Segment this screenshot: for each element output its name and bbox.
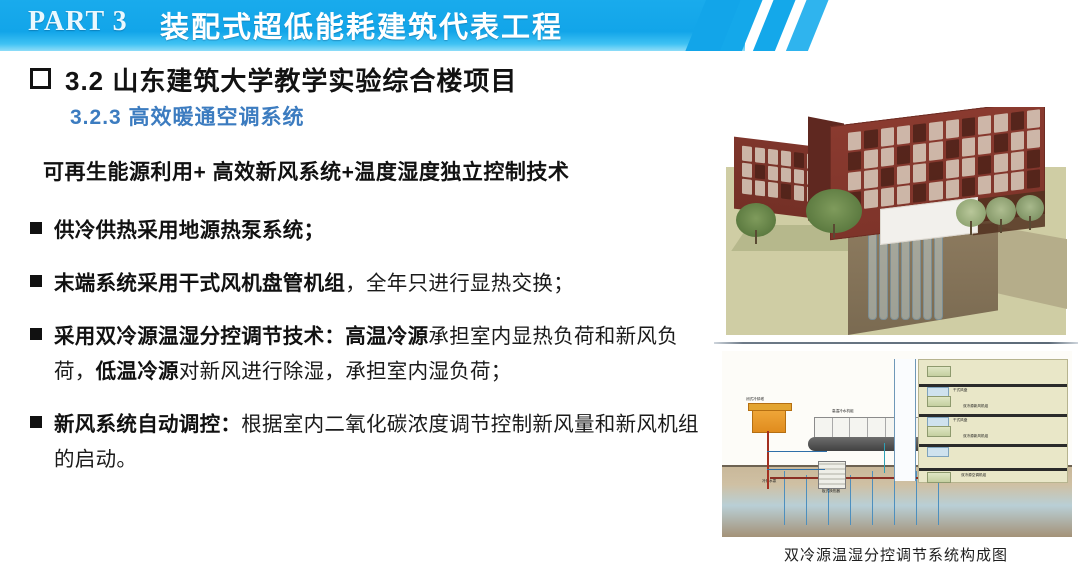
borehole — [784, 471, 785, 525]
label-ahu: 双冷源新风机组 — [963, 404, 988, 409]
pipe-hot — [767, 431, 769, 489]
filled-square-icon — [30, 416, 42, 428]
slide-content: 3.2 山东建筑大学教学实验综合楼项目 3.2.3 高效暖通空调系统 可再生能源… — [0, 51, 712, 576]
bullet-bold: 供冷供热采用地源热泵系统； — [54, 219, 324, 242]
fan-coil-unit-icon — [927, 426, 951, 437]
bullet-regular-3: 对新风进行除湿，承担室内湿负荷； — [179, 360, 512, 383]
lead-line: 可再生能源利用+ 高效新风系统+温度湿度独立控制技术 — [43, 156, 569, 186]
bullet-list: 供冷供热采用地源热泵系统； 末端系统采用干式风机盘管机组，全年只进行显热交换； … — [30, 213, 700, 495]
tree — [1016, 195, 1044, 221]
tree — [806, 189, 862, 233]
label-plate-hx: 板式换热器 — [822, 489, 840, 494]
borehole — [806, 475, 807, 525]
slide-header: PART 3 装配式超低能耗建筑代表工程 — [0, 0, 1080, 51]
list-item: 新风系统自动调控：根据室内二氧化碳浓度调节控制新风量和新风机组的启动。 — [30, 407, 700, 477]
fan-coil-unit-icon — [927, 396, 951, 407]
borehole — [916, 471, 917, 525]
borehole-u-loops — [868, 233, 950, 319]
bullet-bold-2: 高温冷源 — [345, 325, 428, 348]
bullet-bold: 新风系统自动调控： — [54, 413, 241, 436]
borehole — [850, 475, 851, 525]
hvac-schematic-figure: 闭式冷却塔 高温冷水机组 板式换热器 冷却水泵 冷冻水泵 16℃ 21℃ 干式风… — [722, 351, 1072, 537]
label-ahu: 双冷源新风机组 — [963, 434, 988, 439]
bullet-regular: ，全年只进行显热交换； — [345, 272, 574, 295]
building-floors-stack: 干式风盘 双冷源新风机组 干式风盘 双冷源新风机组 双冷源空调机组 — [918, 359, 1068, 483]
bullet-bold: 末端系统采用干式风机盘管机组 — [54, 272, 345, 295]
vertical-riser-shaft — [894, 359, 916, 481]
list-item: 末端系统采用干式风机盘管机组，全年只进行显热交换； — [30, 266, 700, 301]
header-title: 装配式超低能耗建筑代表工程 — [160, 4, 563, 46]
header-stripe-decoration — [700, 0, 900, 51]
figure-caption: 双冷源温湿分控调节系统构成图 — [712, 544, 1080, 565]
bullet-text: 供冷供热采用地源热泵系统； — [54, 213, 324, 248]
pipe-riser-link — [884, 443, 885, 473]
borehole — [872, 471, 873, 525]
packaged-unit-icon — [927, 472, 951, 483]
part-label: PART 3 — [28, 6, 128, 38]
section-heading: 3.2 山东建筑大学教学实验综合楼项目 — [65, 61, 517, 98]
label-bottom-unit: 双冷源空调机组 — [961, 473, 986, 478]
label-fcu: 干式风盘 — [953, 388, 967, 393]
bullet-bold-3: 低温冷源 — [96, 360, 179, 383]
air-handling-unit-icon — [927, 447, 949, 457]
bullet-text: 末端系统采用干式风机盘管机组，全年只进行显热交换； — [54, 266, 574, 301]
tree — [986, 197, 1016, 225]
bullet-text: 新风系统自动调控：根据室内二氧化碳浓度调节控制新风量和新风机组的启动。 — [54, 407, 700, 477]
list-item: 采用双冷源温湿分控调节技术：高温冷源承担室内显热负荷和新风负荷，低温冷源对新风进… — [30, 319, 700, 389]
tree — [956, 199, 986, 227]
tree — [736, 203, 776, 237]
figure-divider — [714, 342, 1078, 344]
filled-square-icon — [30, 222, 42, 234]
hollow-square-icon — [30, 68, 51, 89]
label-fcu: 干式风盘 — [953, 418, 967, 423]
fan-coil-unit-icon — [927, 366, 951, 377]
filled-square-icon — [30, 328, 42, 340]
filled-square-icon — [30, 275, 42, 287]
pipe-supply — [767, 451, 827, 452]
cooling-tower-icon — [752, 407, 786, 433]
figure-panel: 闭式冷却塔 高温冷水机组 板式换热器 冷却水泵 冷冻水泵 16℃ 21℃ 干式风… — [712, 51, 1080, 576]
label-cooling-tower: 闭式冷却塔 — [746, 397, 764, 402]
section-heading-row: 3.2 山东建筑大学教学实验综合楼项目 — [30, 61, 517, 98]
bullet-text: 采用双冷源温湿分控调节技术：高温冷源承担室内显热负荷和新风负荷，低温冷源对新风进… — [54, 319, 700, 389]
borehole — [894, 475, 895, 525]
pipe-return — [767, 469, 825, 470]
bullet-bold: 采用双冷源温湿分控调节技术： — [54, 325, 345, 348]
label-pump-a: 冷却水泵 — [762, 479, 776, 484]
label-chiller: 高温冷水机组 — [832, 409, 854, 414]
list-item: 供冷供热采用地源热泵系统； — [30, 213, 700, 248]
sub-heading: 3.2.3 高效暖通空调系统 — [70, 101, 305, 131]
plate-heat-exchanger-icon — [818, 461, 846, 489]
building-render-figure — [720, 107, 1072, 335]
